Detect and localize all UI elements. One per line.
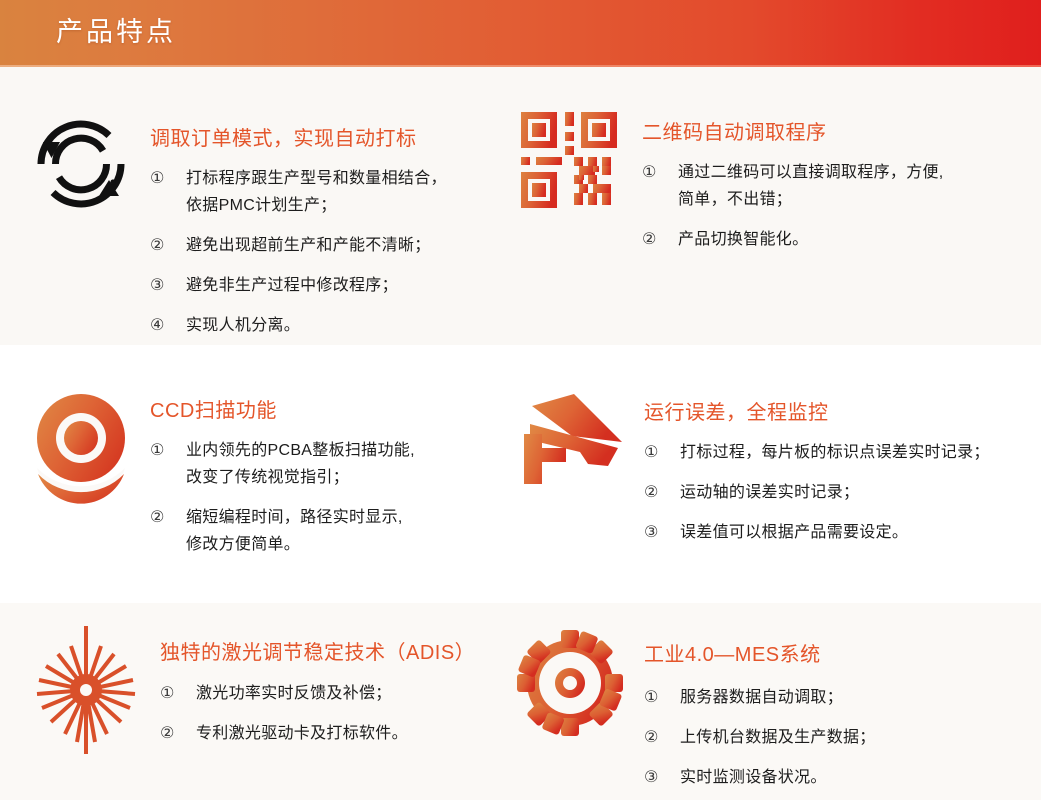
- list-item: ① 通过二维码可以直接调取程序，方便, 简单，不出错；: [642, 159, 1030, 213]
- list-text: 打标程序跟生产型号和数量相结合， 依据PMC计划生产；: [186, 165, 496, 219]
- list-item: ③ 避免非生产过程中修改程序；: [150, 272, 496, 299]
- bullet-list: ① 激光功率实时反馈及补偿； ② 专利激光驱动卡及打标软件。: [160, 680, 506, 747]
- list-marker: ②: [644, 724, 680, 751]
- card-title: 工业4.0—MES系统: [644, 642, 1030, 668]
- list-text: 实现人机分离。: [186, 312, 496, 339]
- list-item: ③ 实时监测设备状况。: [644, 764, 1030, 791]
- list-item: ② 专利激光驱动卡及打标软件。: [160, 720, 506, 747]
- list-item: ② 产品切换智能化。: [642, 226, 1030, 253]
- list-text: 激光功率实时反馈及补偿；: [196, 680, 506, 707]
- list-marker: ②: [160, 720, 196, 747]
- card-title: 调取订单模式，实现自动打标: [150, 126, 496, 152]
- qr-code-icon: [510, 108, 628, 218]
- list-marker: ②: [150, 232, 186, 259]
- list-item: ① 服务器数据自动调取；: [644, 684, 1030, 711]
- list-item: ② 运动轴的误差实时记录；: [644, 479, 1030, 506]
- list-marker: ①: [160, 680, 196, 707]
- list-text: 上传机台数据及生产数据；: [680, 724, 1030, 751]
- list-text: 运动轴的误差实时记录；: [680, 479, 1030, 506]
- list-text: 打标过程，每片板的标识点误差实时记录；: [680, 439, 1030, 466]
- feature-card-order: 调取订单模式，实现自动打标 ① 打标程序跟生产型号和数量相结合， 依据PMC计划…: [26, 112, 496, 339]
- list-marker: ②: [150, 504, 186, 531]
- card-title: 运行误差，全程监控: [644, 400, 1030, 426]
- feature-card-body: 运行误差，全程监控 ① 打标过程，每片板的标识点误差实时记录； ② 运动轴的误差…: [630, 390, 1030, 546]
- list-text: 服务器数据自动调取；: [680, 684, 1030, 711]
- list-marker: ①: [150, 165, 186, 192]
- bullet-list: ① 业内领先的PCBA整板扫描功能, 改变了传统视觉指引； ② 缩短编程时间，路…: [150, 437, 496, 558]
- card-title: 二维码自动调取程序: [642, 120, 1030, 146]
- page-title: 产品特点: [56, 14, 176, 50]
- list-text: 缩短编程时间，路径实时显示, 修改方便简单。: [186, 504, 496, 558]
- card-title: 独特的激光调节稳定技术（ADIS）: [160, 640, 506, 666]
- list-marker: ④: [150, 312, 186, 339]
- security-camera-icon: [510, 390, 630, 500]
- list-item: ③ 误差值可以根据产品需要设定。: [644, 519, 1030, 546]
- list-text: 通过二维码可以直接调取程序，方便, 简单，不出错；: [678, 159, 1030, 213]
- list-marker: ①: [150, 437, 186, 464]
- gear-icon: [510, 628, 630, 738]
- list-item: ① 打标过程，每片板的标识点误差实时记录；: [644, 439, 1030, 466]
- refresh-cycle-icon: [26, 112, 136, 222]
- feature-card-body: 二维码自动调取程序 ① 通过二维码可以直接调取程序，方便, 简单，不出错； ② …: [628, 108, 1030, 253]
- webcam-icon: [26, 390, 136, 500]
- feature-card-adis: 独特的激光调节稳定技术（ADIS） ① 激光功率实时反馈及补偿； ② 专利激光驱…: [26, 620, 506, 747]
- feature-card-body: 工业4.0—MES系统 ① 服务器数据自动调取； ② 上传机台数据及生产数据； …: [630, 628, 1030, 791]
- bullet-list: ① 打标程序跟生产型号和数量相结合， 依据PMC计划生产； ② 避免出现超前生产…: [150, 165, 496, 339]
- product-features-page: 产品特点 调取订单模式，实现自动打标: [0, 0, 1041, 800]
- list-item: ① 激光功率实时反馈及补偿；: [160, 680, 506, 707]
- feature-card-monitor: 运行误差，全程监控 ① 打标过程，每片板的标识点误差实时记录； ② 运动轴的误差…: [510, 390, 1030, 546]
- list-item: ② 缩短编程时间，路径实时显示, 修改方便简单。: [150, 504, 496, 558]
- laser-burst-icon: [26, 620, 146, 730]
- list-marker: ①: [644, 439, 680, 466]
- bullet-list: ① 服务器数据自动调取； ② 上传机台数据及生产数据； ③ 实时监测设备状况。: [644, 684, 1030, 791]
- list-text: 避免出现超前生产和产能不清晰；: [186, 232, 496, 259]
- list-item: ② 上传机台数据及生产数据；: [644, 724, 1030, 751]
- list-marker: ①: [644, 684, 680, 711]
- list-item: ② 避免出现超前生产和产能不清晰；: [150, 232, 496, 259]
- bullet-list: ① 打标过程，每片板的标识点误差实时记录； ② 运动轴的误差实时记录； ③ 误差…: [644, 439, 1030, 546]
- list-item: ① 业内领先的PCBA整板扫描功能, 改变了传统视觉指引；: [150, 437, 496, 491]
- list-text: 专利激光驱动卡及打标软件。: [196, 720, 506, 747]
- feature-card-ccd: CCD扫描功能 ① 业内领先的PCBA整板扫描功能, 改变了传统视觉指引； ② …: [26, 390, 496, 558]
- feature-card-mes: 工业4.0—MES系统 ① 服务器数据自动调取； ② 上传机台数据及生产数据； …: [510, 628, 1030, 791]
- feature-card-body: 独特的激光调节稳定技术（ADIS） ① 激光功率实时反馈及补偿； ② 专利激光驱…: [146, 620, 506, 747]
- list-marker: ②: [644, 479, 680, 506]
- list-text: 实时监测设备状况。: [680, 764, 1030, 791]
- list-text: 产品切换智能化。: [678, 226, 1030, 253]
- list-text: 业内领先的PCBA整板扫描功能, 改变了传统视觉指引；: [186, 437, 496, 491]
- bullet-list: ① 通过二维码可以直接调取程序，方便, 简单，不出错； ② 产品切换智能化。: [642, 159, 1030, 253]
- card-title: CCD扫描功能: [150, 398, 496, 424]
- list-text: 误差值可以根据产品需要设定。: [680, 519, 1030, 546]
- list-marker: ①: [642, 159, 678, 186]
- list-marker: ③: [644, 764, 680, 791]
- list-marker: ③: [150, 272, 186, 299]
- list-marker: ③: [644, 519, 680, 546]
- list-marker: ②: [642, 226, 678, 253]
- feature-card-body: CCD扫描功能 ① 业内领先的PCBA整板扫描功能, 改变了传统视觉指引； ② …: [136, 390, 496, 558]
- feature-card-body: 调取订单模式，实现自动打标 ① 打标程序跟生产型号和数量相结合， 依据PMC计划…: [136, 112, 496, 339]
- list-text: 避免非生产过程中修改程序；: [186, 272, 496, 299]
- list-item: ① 打标程序跟生产型号和数量相结合， 依据PMC计划生产；: [150, 165, 496, 219]
- feature-card-qrcode: 二维码自动调取程序 ① 通过二维码可以直接调取程序，方便, 简单，不出错； ② …: [510, 108, 1030, 253]
- list-item: ④ 实现人机分离。: [150, 312, 496, 339]
